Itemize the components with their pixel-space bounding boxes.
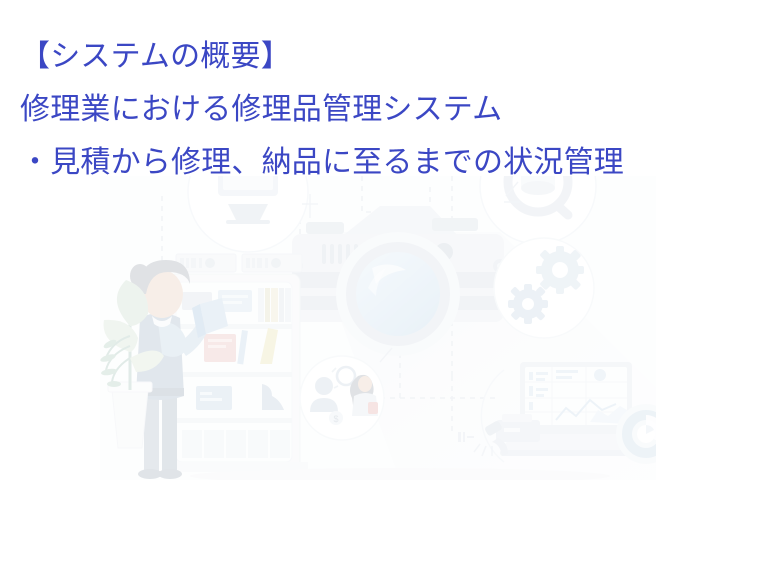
repair-management-flow-illustration: $	[100, 176, 656, 480]
gear-large	[536, 246, 584, 294]
slide-heading: 【システムの概要】	[20, 42, 291, 72]
camera-decor-marks	[302, 182, 520, 362]
slide-canvas: $	[0, 0, 768, 576]
slide-bullet-line: ・見積から修理、納品に至るまでの状況管理	[20, 148, 624, 178]
connector-dots	[159, 210, 454, 401]
gear-small	[508, 284, 548, 324]
svg-text:$: $	[333, 414, 338, 424]
storage-shelf	[162, 274, 308, 472]
donut-chart-badge	[616, 404, 656, 464]
camera-shadow	[308, 232, 656, 480]
monitor-circle-icon	[188, 176, 308, 252]
potted-plant	[100, 280, 164, 448]
laptop-dashboard	[458, 362, 656, 464]
customer-circle-icon: $	[300, 356, 384, 440]
barcode-scanner	[474, 420, 508, 456]
gears-circle-icon	[494, 238, 594, 338]
camera	[289, 206, 507, 356]
slide-subject-line: 修理業における修理品管理システム	[20, 95, 502, 125]
search-circle-icon	[480, 176, 596, 244]
held-item	[192, 298, 228, 338]
person-at-shelf	[130, 260, 228, 479]
shelf-label-tags	[176, 254, 302, 272]
dashed-connector-lines	[160, 176, 560, 436]
